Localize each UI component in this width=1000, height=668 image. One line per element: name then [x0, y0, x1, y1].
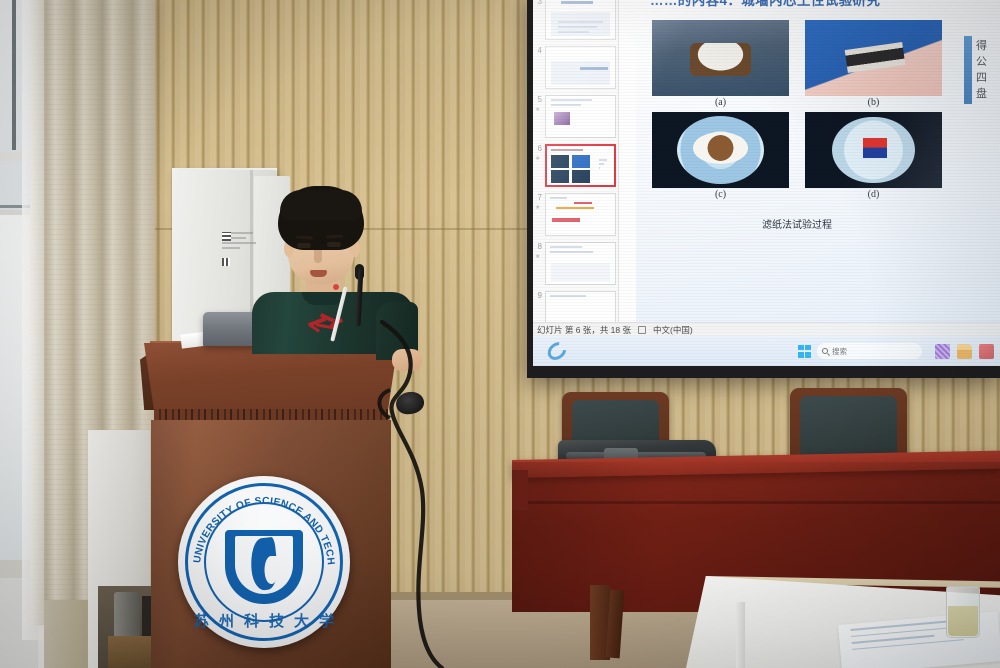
presenter-eye-right: [327, 242, 341, 247]
slide-thumbnail-7[interactable]: ★ 7: [533, 190, 618, 239]
search-icon: [822, 348, 828, 354]
thumbnail-number: 4: [533, 46, 545, 55]
taskbar-app-icons: [935, 344, 994, 359]
figure-grid: (a) (b) (c) (: [652, 20, 942, 200]
windows-start-icon[interactable]: [798, 345, 811, 358]
ac-qr-code-icon-2: [222, 258, 230, 266]
language-indicator[interactable]: 中文(中国): [653, 324, 693, 336]
animation-star-icon: ★: [535, 106, 540, 113]
slide-side-text: 得 公 四 盘: [976, 38, 1000, 102]
side-text-line-1: 得: [976, 38, 1000, 54]
slide-thumbnail-4[interactable]: 4: [533, 43, 618, 92]
glass-contents: [948, 606, 978, 636]
slide-title: ……的内容4：城墙内芯土性试验研究: [650, 0, 994, 9]
shirt-graphic: [304, 314, 350, 336]
thumbnail-number: 7: [533, 193, 545, 202]
figure-caption-c: (c): [652, 189, 789, 200]
figure-photo-b: [805, 20, 942, 96]
thumbnail-preview: [545, 95, 616, 138]
presentation-room-scene: 3 4 ★ 5: [0, 0, 1000, 668]
thumbnail-number: 3: [533, 0, 545, 6]
slide-thumbnail-3[interactable]: 3: [533, 0, 618, 43]
presenter-mouth: [310, 270, 327, 277]
presenter-nose: [314, 250, 322, 263]
figure-caption-b: (b): [805, 97, 942, 108]
figure-cell-c: (c): [652, 112, 789, 200]
thumbnail-preview: [545, 46, 616, 89]
thumbnail-number: 5: [533, 95, 545, 104]
animation-star-icon: ★: [535, 204, 540, 211]
animation-star-icon: ★: [535, 253, 540, 260]
window-mullion-dark: [12, 0, 16, 150]
edge-browser-icon[interactable]: [544, 338, 570, 363]
microphone-indicator-light: [333, 284, 339, 290]
slide-thumbnail-5[interactable]: ★ 5: [533, 92, 618, 141]
slide-thumbnail-8[interactable]: ★ 8: [533, 239, 618, 288]
thumbnail-image: [554, 112, 570, 125]
projection-screen[interactable]: 3 4 ★ 5: [533, 0, 1000, 366]
app-red-icon[interactable]: [979, 344, 994, 359]
figure-photo-d: [805, 112, 942, 188]
figure-row-top: (a) (b): [652, 20, 942, 108]
slide-counter: 幻灯片 第 6 张，共 18 张: [537, 324, 631, 336]
accessibility-icon[interactable]: [638, 326, 646, 334]
emblem-flame-highlight: [265, 556, 278, 584]
figure-row-bottom: (c) (d): [652, 112, 942, 200]
floor-cylinder-object: [114, 592, 140, 638]
university-emblem: SUZHOU UNIVERSITY OF SCIENCE AND TECHNOL…: [178, 476, 350, 648]
figure-cell-b: (b): [805, 20, 942, 108]
thumbnail-number: 8: [533, 242, 545, 251]
thumbnail-preview: [545, 242, 616, 285]
side-text-line-3: 四: [976, 70, 1000, 86]
thumbnail-preview: [545, 193, 616, 236]
search-placeholder: 搜索: [832, 346, 847, 357]
presenter-hair-fringe: [280, 190, 362, 220]
app-purple-icon[interactable]: [935, 344, 950, 359]
side-text-line-4: 盘: [976, 86, 1000, 102]
figure-caption-a: (a): [652, 97, 789, 108]
folder-icon[interactable]: [957, 344, 972, 359]
presenter-forearm: [392, 349, 422, 371]
figure-photo-a: [652, 20, 789, 96]
windows-taskbar[interactable]: 搜索: [533, 336, 1000, 366]
slide-thumbnail-6[interactable]: ★ 6: [533, 141, 618, 190]
emblem-chinese-name: 苏州科技大学: [178, 610, 350, 631]
ac-qr-code-icon: [222, 232, 231, 241]
powerpoint-status-bar[interactable]: 幻灯片 第 6 张，共 18 张 中文(中国): [533, 322, 1000, 336]
thumbnail-number: 6: [533, 144, 545, 153]
thumbnail-preview-selected: [545, 144, 616, 187]
front-desk-leg: [736, 602, 745, 668]
slide-accent-bar: [964, 36, 972, 104]
taskbar-search-input[interactable]: 搜索: [817, 343, 922, 359]
slide-thumbnail-panel[interactable]: 3 4 ★ 5: [533, 0, 619, 334]
thumbnail-number: 9: [533, 291, 545, 300]
side-text-line-2: 公: [976, 54, 1000, 70]
figure-cell-d: (d): [805, 112, 942, 200]
sheer-curtain: [22, 0, 44, 640]
presenter-eye-left: [297, 243, 311, 248]
figure-caption-d: (d): [805, 189, 942, 200]
slide-canvas[interactable]: ……的内容4：城墙内芯土性试验研究 (a) (b): [636, 0, 1000, 336]
animation-star-icon: ★: [535, 155, 540, 162]
figure-photo-c: [652, 112, 789, 188]
figure-cell-a: (a): [652, 20, 789, 108]
figure-subcaption: 滤纸法试验过程: [652, 216, 942, 231]
thumbnail-preview: [545, 0, 616, 40]
taskbar-center: 搜索: [798, 343, 922, 359]
slide-editing-area[interactable]: ……的内容4：城墙内芯土性试验研究 (a) (b): [619, 0, 1000, 336]
